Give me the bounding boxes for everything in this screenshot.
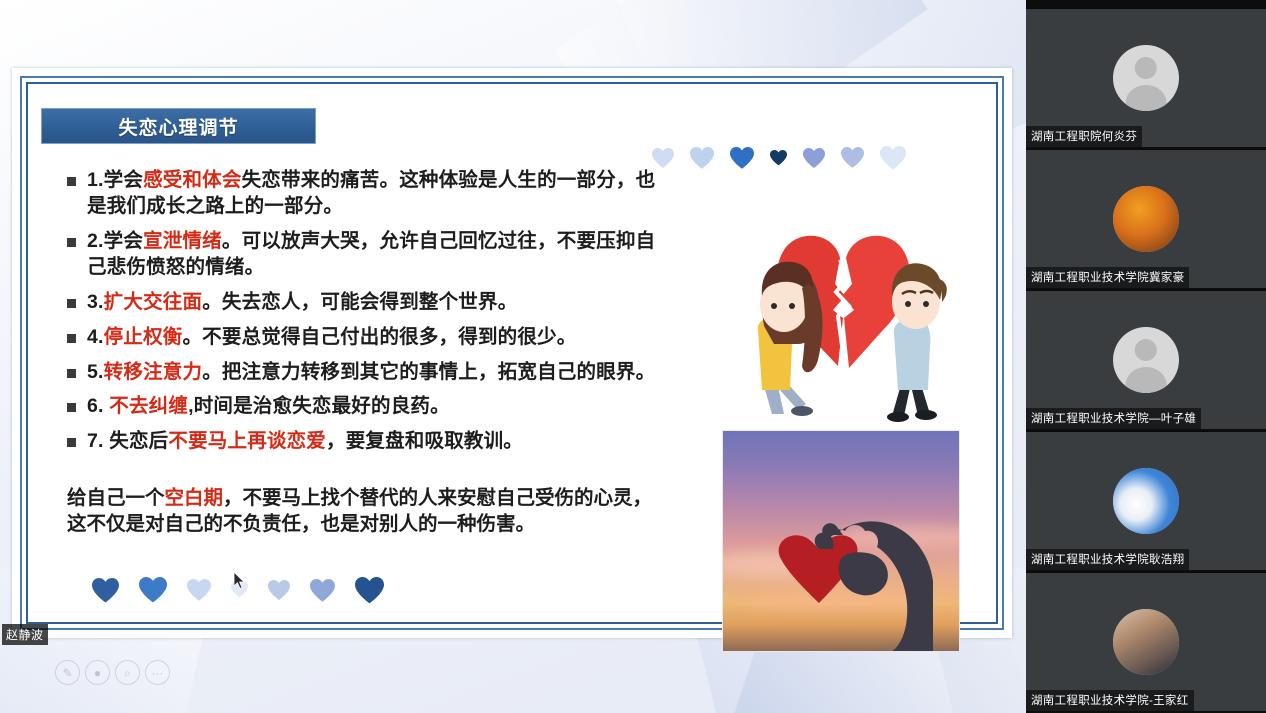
bullet-list: 1.学会感受和体会失恋带来的痛苦。这种体验是人生的一部分，也是我们成长之路上的一… bbox=[67, 168, 667, 464]
bullet-text: 6. 不去纠缠,时间是治愈失恋最好的良药。 bbox=[87, 394, 450, 420]
highlighted-text-run: 转移注意力 bbox=[104, 361, 203, 383]
text-run: 3. bbox=[87, 291, 104, 313]
pen-icon: ✎ bbox=[62, 667, 72, 679]
text-run: 1.学会 bbox=[87, 169, 143, 191]
highlighted-text-run: 空白期 bbox=[165, 487, 224, 509]
highlighted-text-run: 宣泄情绪 bbox=[143, 230, 222, 252]
bullet-text: 2.学会宣泄情绪。可以放声大哭，允许自己回忆过往，不要压抑自己悲伤愤怒的情绪。 bbox=[87, 229, 667, 281]
broken-heart-couple-image bbox=[712, 218, 972, 430]
bullet-text: 5.转移注意力。把注意力转移到其它的事情上，拓宽自己的眼界。 bbox=[87, 360, 655, 386]
avatar-body-icon bbox=[1126, 85, 1167, 111]
participant-name-label: 湖南工程职业技术学院耿浩翔 bbox=[1026, 549, 1189, 570]
avatar bbox=[1113, 327, 1179, 393]
bullet-square-icon bbox=[67, 177, 76, 186]
participant-tile[interactable]: 湖南工程职业技术学院—叶子雄 bbox=[1026, 290, 1266, 429]
bullet-item: 3.扩大交往面。失去恋人，可能会得到整个世界。 bbox=[67, 290, 667, 316]
bullet-item: 7. 失恋后不要马上再谈恋爱，要复盘和吸取教训。 bbox=[67, 429, 667, 455]
slide-title-banner: 失恋心理调节 bbox=[41, 108, 316, 144]
bullet-item: 6. 不去纠缠,时间是治愈失恋最好的良药。 bbox=[67, 394, 667, 420]
shared-screen-area: 失恋心理调节 1.学会感受和体会失恋带来的痛苦。这种体验是人生的一部分，也是我们… bbox=[0, 0, 1026, 713]
participant-tile[interactable]: 湖南工程职院何炎芬 bbox=[1026, 8, 1266, 147]
closing-paragraph: 给自己一个空白期，不要马上找个替代的人来安慰自己受伤的心灵，这不仅是对自己的不负… bbox=[67, 486, 667, 538]
bullet-item: 2.学会宣泄情绪。可以放声大哭，允许自己回忆过往，不要压抑自己悲伤愤怒的情绪。 bbox=[67, 229, 667, 281]
heart-icon bbox=[187, 579, 211, 602]
bullet-square-icon bbox=[67, 238, 76, 247]
bullet-square-icon bbox=[67, 369, 76, 378]
heart-icon bbox=[730, 147, 754, 170]
bullet-text: 1.学会感受和体会失恋带来的痛苦。这种体验是人生的一部分，也是我们成长之路上的一… bbox=[87, 168, 667, 220]
bullet-item: 5.转移注意力。把注意力转移到其它的事情上，拓宽自己的眼界。 bbox=[67, 360, 667, 386]
highlighted-text-run: 停止权衡 bbox=[104, 326, 183, 348]
text-run: ,时间是治愈失恋最好的良药。 bbox=[188, 395, 450, 417]
highlighted-text-run: 感受和体会 bbox=[143, 169, 242, 191]
zoom-button[interactable]: ⌕ bbox=[115, 660, 140, 685]
bullet-square-icon bbox=[67, 299, 76, 308]
bullet-text: 7. 失恋后不要马上再谈恋爱，要复盘和吸取教训。 bbox=[87, 429, 523, 455]
participant-tile[interactable]: 湖南工程职业技术学院冀家豪 bbox=[1026, 149, 1266, 288]
heart-decoration-row-top bbox=[652, 146, 906, 170]
heart-icon bbox=[770, 150, 787, 166]
text-run: 7. 失恋后 bbox=[87, 430, 168, 452]
avatar-body-icon bbox=[1126, 367, 1167, 393]
presentation-toolbar[interactable]: ✎●⌕··· bbox=[55, 660, 170, 685]
participant-name-label: 湖南工程职业技术学院—叶子雄 bbox=[1026, 408, 1201, 429]
presenter-name-tag: 赵静波 bbox=[2, 624, 48, 645]
presentation-slide: 失恋心理调节 1.学会感受和体会失恋带来的痛苦。这种体验是人生的一部分，也是我们… bbox=[12, 68, 1012, 638]
heart-icon bbox=[310, 579, 335, 603]
participant-rail: 湖南工程职院何炎芬湖南工程职业技术学院冀家豪湖南工程职业技术学院—叶子雄湖南工程… bbox=[1026, 0, 1266, 713]
text-run: 5. bbox=[87, 361, 104, 383]
text-run: 4. bbox=[87, 326, 104, 348]
highlighted-text-run: 扩大交往面 bbox=[104, 291, 203, 313]
slide-title: 失恋心理调节 bbox=[118, 113, 238, 140]
heart-icon bbox=[92, 578, 119, 603]
bullet-square-icon bbox=[67, 403, 76, 412]
heart-icon bbox=[355, 577, 384, 604]
zoom-icon: ⌕ bbox=[124, 667, 131, 679]
heart-icon bbox=[139, 577, 167, 603]
participant-tile[interactable]: 湖南工程职业技术学院-王家红 bbox=[1026, 572, 1266, 711]
avatar-photo bbox=[1113, 609, 1179, 675]
participant-name-label: 湖南工程职院何炎芬 bbox=[1026, 126, 1142, 147]
bullet-text: 3.扩大交往面。失去恋人，可能会得到整个世界。 bbox=[87, 290, 517, 316]
text-run: 6. bbox=[87, 395, 109, 417]
heart-icon bbox=[803, 148, 825, 169]
hand-heart-sunset-image bbox=[722, 430, 960, 652]
laser-pointer-icon: ● bbox=[94, 667, 101, 679]
participant-name-label: 湖南工程职业技术学院-王家红 bbox=[1026, 690, 1194, 711]
more-options-button[interactable]: ··· bbox=[145, 660, 170, 685]
avatar-photo bbox=[1113, 468, 1179, 534]
text-run: 2.学会 bbox=[87, 230, 143, 252]
heart-icon bbox=[880, 146, 906, 170]
avatar bbox=[1113, 609, 1179, 675]
text-run: 。不要总觉得自己付出的很多，得到的很少。 bbox=[182, 326, 576, 348]
participant-name-label: 湖南工程职业技术学院冀家豪 bbox=[1026, 267, 1189, 288]
more-options-icon: ··· bbox=[152, 667, 164, 679]
avatar-head-icon bbox=[1135, 57, 1157, 79]
bullet-item: 4.停止权衡。不要总觉得自己付出的很多，得到的很少。 bbox=[67, 325, 667, 351]
avatar bbox=[1113, 468, 1179, 534]
bullet-square-icon bbox=[67, 438, 76, 447]
text-run: 。把注意力转移到其它的事情上，拓宽自己的眼界。 bbox=[202, 361, 655, 383]
avatar bbox=[1113, 186, 1179, 252]
heart-decoration-row-bottom bbox=[92, 577, 384, 604]
heart-icon bbox=[690, 147, 714, 170]
avatar-head-icon bbox=[1135, 339, 1157, 361]
heart-icon bbox=[841, 147, 864, 169]
text-run: 。失去恋人，可能会得到整个世界。 bbox=[202, 291, 517, 313]
avatar-photo bbox=[1113, 186, 1179, 252]
text-run: ，要复盘和吸取教训。 bbox=[326, 430, 523, 452]
heart-icon bbox=[231, 582, 248, 598]
highlighted-text-run: 不要马上再谈恋爱 bbox=[168, 430, 326, 452]
bullet-text: 4.停止权衡。不要总觉得自己付出的很多，得到的很少。 bbox=[87, 325, 577, 351]
heart-icon bbox=[652, 148, 674, 169]
bullet-item: 1.学会感受和体会失恋带来的痛苦。这种体验是人生的一部分，也是我们成长之路上的一… bbox=[67, 168, 667, 220]
bullet-square-icon bbox=[67, 334, 76, 343]
pen-button[interactable]: ✎ bbox=[55, 660, 80, 685]
heart-icon bbox=[268, 580, 290, 601]
laser-pointer-button[interactable]: ● bbox=[85, 660, 110, 685]
text-run: 给自己一个 bbox=[67, 487, 165, 509]
participant-tile[interactable]: 湖南工程职业技术学院耿浩翔 bbox=[1026, 431, 1266, 570]
highlighted-text-run: 不去纠缠 bbox=[109, 395, 188, 417]
avatar bbox=[1113, 45, 1179, 111]
